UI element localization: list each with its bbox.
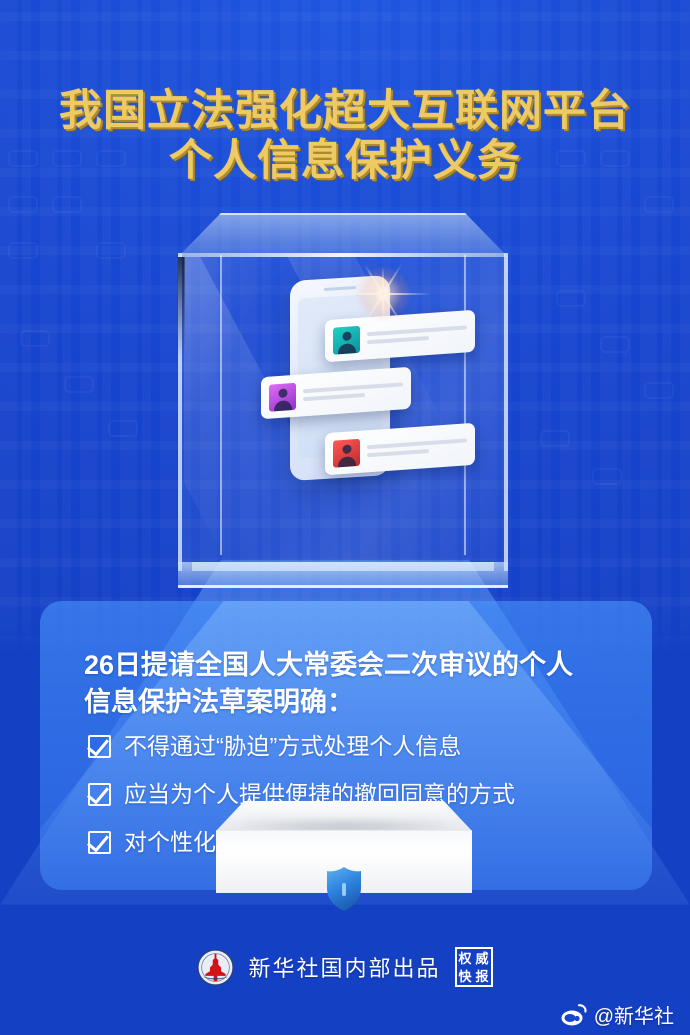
user-avatar-icon [333,438,360,467]
checkbox-checked-icon [88,735,111,758]
pedestal-front-face [216,830,472,893]
title-line-1: 我国立法强化超大互联网平台 [0,86,690,136]
seal-char-4: 报 [474,967,491,985]
bullet-label: 不得通过“胁迫”方式处理个人信息 [124,731,461,761]
watermark-label: @新华社 [594,1000,674,1029]
poster-canvas: 我国立法强化超大互联网平台 个人信息保护义务 [0,0,690,1035]
user-avatar-icon [269,382,296,411]
case-rear-right-edge [464,255,466,555]
lead-paragraph: 26日提请全国人大常委会二次审议的个人 信息保护法草案明确： [84,647,618,721]
seal-char-3: 快 [457,967,474,985]
card-text-lines [303,382,403,401]
card-text-lines [367,438,467,457]
card-text-lines [367,325,467,344]
weibo-watermark: @新华社 [561,1000,674,1029]
pedestal [216,801,472,893]
weibo-icon [561,1004,587,1026]
case-top-face [178,213,508,257]
footer: 新华社国内部出品 权 威 快 报 [0,938,690,996]
seal-char-2: 威 [474,949,491,967]
xinhua-logo-icon [197,949,234,986]
authority-seal: 权 威 快 报 [455,947,493,987]
case-left-shadow [178,257,185,357]
lead-line-1: 26日提请全国人大常委会二次审议的个人 [84,647,618,684]
case-base-slab [178,562,508,588]
list-item: 不得通过“胁迫”方式处理个人信息 [84,731,618,761]
phone-speaker [324,286,356,291]
checkbox-checked-icon [88,831,111,854]
title-line-2: 个人信息保护义务 [0,136,690,186]
user-avatar-icon [333,325,360,354]
lead-line-2: 信息保护法草案明确： [84,684,618,721]
seal-char-1: 权 [457,949,474,967]
producer-label: 新华社国内部出品 [248,951,440,983]
case-rear-left-edge [220,255,222,555]
security-shield-icon [325,866,363,912]
checkbox-checked-icon [88,783,111,806]
poster-title: 我国立法强化超大互联网平台 个人信息保护义务 [0,86,690,186]
